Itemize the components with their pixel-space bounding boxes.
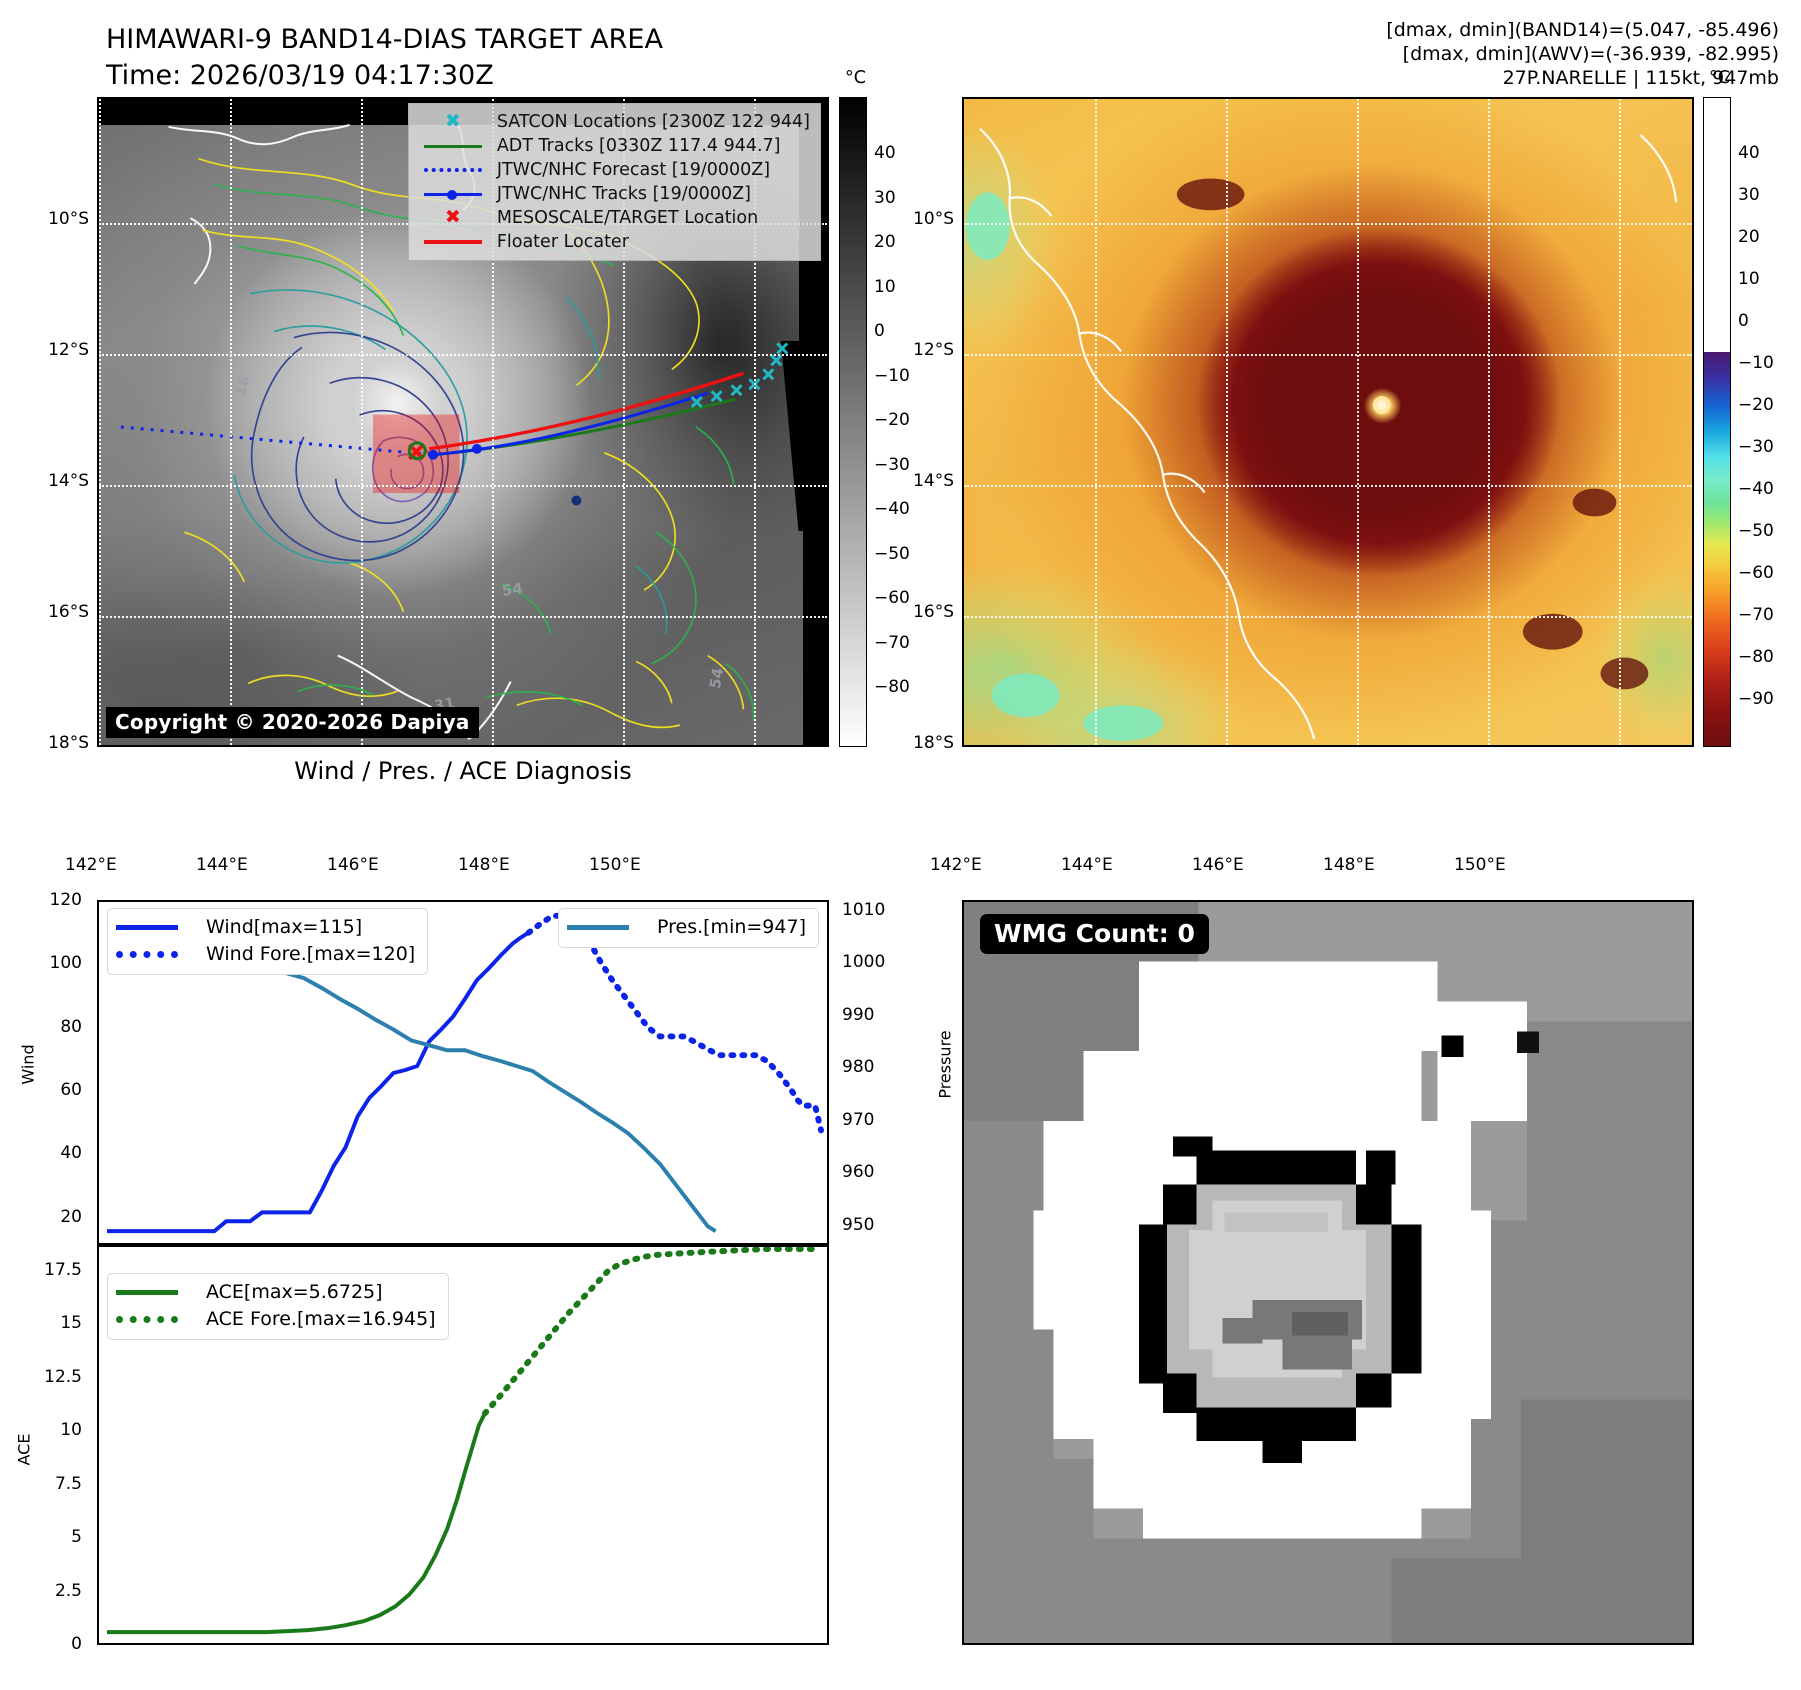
ir-xtick-150e: 150°E bbox=[589, 855, 641, 875]
awv-ytick-12s: 12°S bbox=[890, 340, 954, 360]
svg-text:54: 54 bbox=[501, 579, 524, 600]
wind-ytick-100: 100 bbox=[10, 953, 82, 973]
pressure-legend[interactable]: Pres.[min=947] bbox=[558, 908, 819, 948]
awv-colorbar-unit: °C bbox=[1709, 68, 1730, 88]
dmax-dmin-band14: [dmax, dmin](BAND14)=(5.047, -85.496) bbox=[1386, 18, 1779, 42]
awv-cbtick-10: 10 bbox=[1738, 269, 1760, 289]
ir-xtick-142e: 142°E bbox=[65, 855, 117, 875]
line-teal-solid-icon bbox=[567, 925, 629, 930]
legend-row-pressure: Pres.[min=947] bbox=[567, 914, 806, 941]
awv-ytick-10s: 10°S bbox=[890, 209, 954, 229]
wmg-count-badge: WMG Count: 0 bbox=[980, 914, 1209, 954]
series-ace bbox=[107, 1413, 485, 1632]
svg-text:16: 16 bbox=[231, 373, 254, 398]
ir-cbtick--10: −10 bbox=[874, 366, 910, 386]
ir-cbtick-40: 40 bbox=[874, 143, 896, 163]
pressure-ytick-970: 970 bbox=[842, 1110, 874, 1130]
awv-xtick-144e: 144°E bbox=[1061, 855, 1113, 875]
awv-cbtick--60: −60 bbox=[1738, 563, 1774, 583]
ir-cbtick-0: 0 bbox=[874, 321, 885, 341]
ir-xtick-144e: 144°E bbox=[196, 855, 248, 875]
awv-cbtick-0: 0 bbox=[1738, 311, 1749, 331]
legend-label-adt: ADT Tracks [0330Z 117.4 944.7] bbox=[489, 134, 810, 158]
ace-ytick-15.0: 15 bbox=[10, 1313, 82, 1333]
series-wind bbox=[107, 933, 529, 1231]
awv-cbtick-40: 40 bbox=[1738, 143, 1760, 163]
ir-ytick-16s: 16°S bbox=[25, 602, 89, 622]
ir-cbtick--70: −70 bbox=[874, 633, 910, 653]
legend-row-floater: Floater Locater bbox=[417, 230, 810, 254]
legend-label-wind: Wind[max=115] bbox=[196, 914, 415, 941]
pressure-ytick-950: 950 bbox=[842, 1215, 874, 1235]
legend-label-floater: Floater Locater bbox=[489, 230, 810, 254]
legend-label-ace-forecast: ACE Fore.[max=16.945] bbox=[196, 1306, 436, 1333]
ir-cbtick-10: 10 bbox=[874, 277, 896, 297]
line-green-icon bbox=[424, 145, 482, 148]
figure-root: HIMAWARI-9 BAND14-DIAS TARGET AREA Time:… bbox=[0, 0, 1801, 1690]
pressure-ytick-980: 980 bbox=[842, 1057, 874, 1077]
awv-xtick-150e: 150°E bbox=[1454, 855, 1506, 875]
ace-ytick-5.0: 5 bbox=[10, 1527, 82, 1547]
pressure-ytick-1010: 1010 bbox=[842, 900, 885, 920]
ace-ytick-12.5: 12.5 bbox=[10, 1367, 82, 1387]
legend-row-satcon: ✖ SATCON Locations [2300Z 122 944] bbox=[417, 110, 810, 134]
legend-row-ace-forecast: ACE Fore.[max=16.945] bbox=[116, 1306, 436, 1333]
pressure-ytick-990: 990 bbox=[842, 1005, 874, 1025]
awv-ytick-14s: 14°S bbox=[890, 471, 954, 491]
ir-ytick-12s: 12°S bbox=[25, 340, 89, 360]
legend-row-wind: Wind[max=115] bbox=[116, 914, 415, 941]
legend-label-mesoscale: MESOSCALE/TARGET Location bbox=[489, 206, 810, 230]
ace-ytick-17.5: 17.5 bbox=[10, 1260, 82, 1280]
legend-row-tracks: JTWC/NHC Tracks [19/0000Z] bbox=[417, 182, 810, 206]
line-green-solid-icon bbox=[116, 1290, 178, 1295]
ir-satellite-panel[interactable]: 16 54 31 54 bbox=[97, 97, 829, 747]
ace-legend[interactable]: ACE[max=5.6725] ACE Fore.[max=16.945] bbox=[107, 1273, 449, 1340]
x-marker-red-icon: ✖ bbox=[445, 206, 461, 228]
ir-ytick-14s: 14°S bbox=[25, 471, 89, 491]
awv-cbtick--40: −40 bbox=[1738, 479, 1774, 499]
awv-cbtick--30: −30 bbox=[1738, 437, 1774, 457]
title-line-1: HIMAWARI-9 BAND14-DIAS TARGET AREA bbox=[106, 22, 663, 58]
awv-satellite-panel[interactable] bbox=[962, 97, 1694, 747]
page-title: HIMAWARI-9 BAND14-DIAS TARGET AREA Time:… bbox=[106, 22, 663, 94]
wmg-pixel-map bbox=[964, 902, 1692, 1643]
ir-colorbar[interactable] bbox=[839, 97, 867, 747]
pressure-axis-label: Pressure bbox=[936, 1025, 955, 1105]
wind-legend[interactable]: Wind[max=115] Wind Fore.[max=120] bbox=[107, 908, 428, 975]
ace-axis-label: ACE bbox=[15, 1420, 34, 1480]
ir-legend[interactable]: ✖ SATCON Locations [2300Z 122 944] ADT T… bbox=[408, 103, 821, 261]
awv-cbtick--50: −50 bbox=[1738, 521, 1774, 541]
ace-ytick-2.5: 2.5 bbox=[10, 1581, 82, 1601]
ace-ytick-0.0: 0 bbox=[10, 1634, 82, 1654]
diagnosis-title: Wind / Pres. / ACE Diagnosis bbox=[97, 757, 829, 785]
legend-label-ace: ACE[max=5.6725] bbox=[196, 1279, 436, 1306]
x-marker-cyan-icon: ✖ bbox=[445, 110, 461, 132]
ir-xtick-146e: 146°E bbox=[327, 855, 379, 875]
awv-colorbar[interactable] bbox=[1703, 97, 1731, 747]
legend-label-wind-forecast: Wind Fore.[max=120] bbox=[196, 941, 415, 968]
legend-row-forecast: JTWC/NHC Forecast [19/0000Z] bbox=[417, 158, 810, 182]
dmax-dmin-awv: [dmax, dmin](AWV)=(-36.939, -82.995) bbox=[1386, 42, 1779, 66]
legend-label-forecast: JTWC/NHC Forecast [19/0000Z] bbox=[489, 158, 810, 182]
ir-colorbar-unit: °C bbox=[845, 68, 866, 88]
ir-cbtick--80: −80 bbox=[874, 677, 910, 697]
line-blue-dotted-icon bbox=[116, 951, 178, 958]
awv-ytick-16s: 16°S bbox=[890, 602, 954, 622]
legend-row-adt: ADT Tracks [0330Z 117.4 944.7] bbox=[417, 134, 810, 158]
ir-ytick-10s: 10°S bbox=[25, 209, 89, 229]
ir-ytick-18s: 18°S bbox=[25, 733, 89, 753]
awv-cbtick-20: 20 bbox=[1738, 227, 1760, 247]
dotted-blue-icon bbox=[424, 168, 482, 172]
wind-ytick-20: 20 bbox=[10, 1207, 82, 1227]
wmg-panel[interactable]: WMG Count: 0 bbox=[962, 900, 1694, 1645]
legend-label-tracks: JTWC/NHC Tracks [19/0000Z] bbox=[489, 182, 810, 206]
pressure-ytick-1000: 1000 bbox=[842, 952, 885, 972]
awv-cbtick--70: −70 bbox=[1738, 605, 1774, 625]
awv-cbtick-30: 30 bbox=[1738, 185, 1760, 205]
awv-coastline-overlay bbox=[964, 99, 1692, 745]
line-blue-solid-icon bbox=[116, 925, 178, 930]
legend-row-mesoscale: ✖ MESOSCALE/TARGET Location bbox=[417, 206, 810, 230]
awv-cbtick--20: −20 bbox=[1738, 395, 1774, 415]
wind-pressure-chart[interactable]: Wind[max=115] Wind Fore.[max=120] Pres.[… bbox=[97, 900, 829, 1245]
ir-cbtick--50: −50 bbox=[874, 544, 910, 564]
ir-cbtick--20: −20 bbox=[874, 410, 910, 430]
line-red-icon bbox=[424, 240, 482, 244]
awv-cbtick--80: −80 bbox=[1738, 647, 1774, 667]
legend-label-pressure: Pres.[min=947] bbox=[647, 914, 806, 941]
awv-xtick-146e: 146°E bbox=[1192, 855, 1244, 875]
line-green-dotted-icon bbox=[116, 1316, 178, 1323]
wind-ytick-120: 120 bbox=[10, 890, 82, 910]
title-line-2: Time: 2026/03/19 04:17:30Z bbox=[106, 58, 663, 94]
ir-cbtick--40: −40 bbox=[874, 499, 910, 519]
awv-cbtick--10: −10 bbox=[1738, 353, 1774, 373]
svg-text:54: 54 bbox=[706, 666, 727, 690]
legend-label-satcon: SATCON Locations [2300Z 122 944] bbox=[489, 110, 810, 134]
ir-cbtick-20: 20 bbox=[874, 232, 896, 252]
awv-ytick-18s: 18°S bbox=[890, 733, 954, 753]
awv-cbtick--90: −90 bbox=[1738, 689, 1774, 709]
wind-axis-label: Wind bbox=[19, 1035, 38, 1095]
pressure-ytick-960: 960 bbox=[842, 1162, 874, 1182]
legend-row-ace: ACE[max=5.6725] bbox=[116, 1279, 436, 1306]
ir-cbtick-30: 30 bbox=[874, 188, 896, 208]
copyright-notice: Copyright © 2020-2026 Dapiya bbox=[106, 707, 479, 738]
wind-ytick-40: 40 bbox=[10, 1143, 82, 1163]
awv-xtick-142e: 142°E bbox=[930, 855, 982, 875]
series-ace-forecast bbox=[485, 1249, 815, 1413]
ir-xtick-148e: 148°E bbox=[458, 855, 510, 875]
awv-xtick-148e: 148°E bbox=[1323, 855, 1375, 875]
ace-chart[interactable]: ACE[max=5.6725] ACE Fore.[max=16.945] bbox=[97, 1245, 829, 1645]
line-dot-blue-icon bbox=[424, 189, 482, 199]
legend-row-wind-forecast: Wind Fore.[max=120] bbox=[116, 941, 415, 968]
